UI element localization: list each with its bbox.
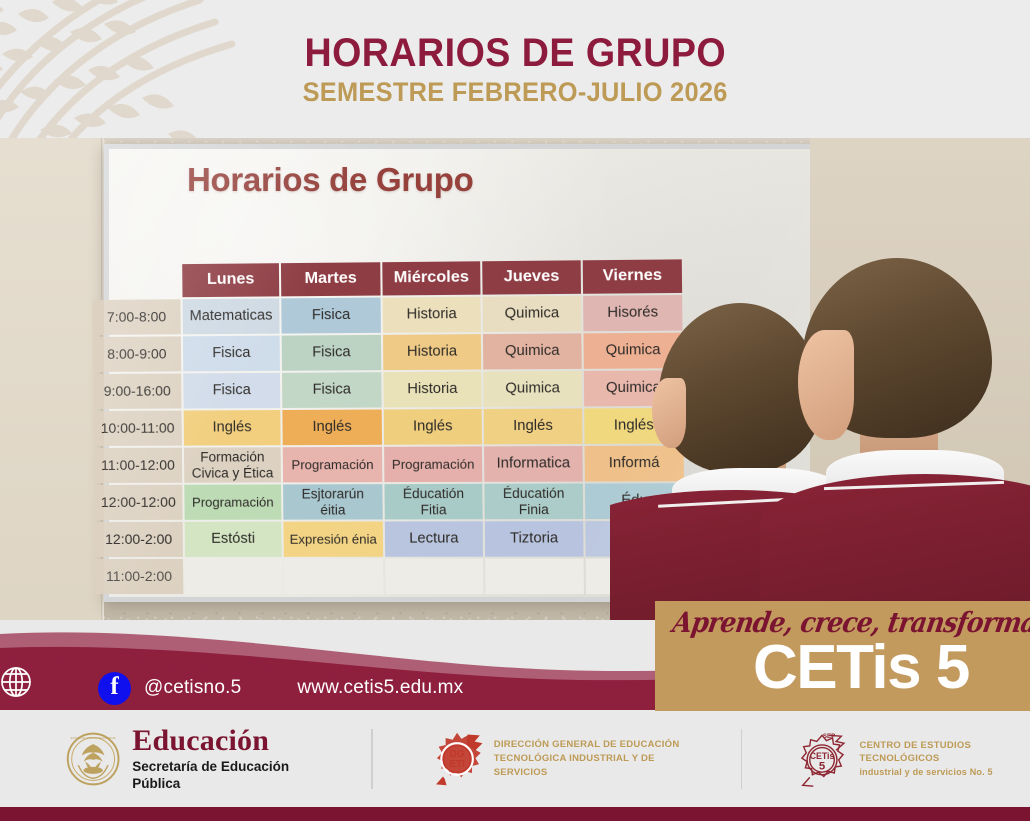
logo-divider-1 — [371, 729, 373, 789]
schedule-header-row: Lunes Martes Miércoles Jueves Viernes — [92, 259, 682, 298]
schedule-cell: Historia — [383, 372, 481, 408]
globe-icon[interactable] — [0, 666, 32, 698]
schedule-row: 8:00-9:00FisicaFisicaHistoriaQuimicaQuim… — [93, 333, 683, 372]
schedule-cell: Esjtorarún éitia — [283, 484, 383, 519]
whiteboard-title: Horarios de Grupo — [187, 161, 473, 199]
facebook-handle: @cetisno.5 — [144, 677, 241, 699]
time-slot-cell: 11:00-2:00 — [95, 559, 184, 594]
website-contact[interactable]: www.cetis5.edu.mx — [297, 677, 463, 699]
time-slot-cell: 9:00-16:00 — [93, 373, 182, 409]
schedule-cell: Matematicas — [183, 298, 280, 334]
dgeti-gear-icon: DG ETI — [429, 727, 485, 791]
logo-dgeti: DG ETI DIRECCIÓN GENERAL DE EDUCACIÓN TE… — [429, 721, 685, 797]
schedule-cell: Programación — [184, 484, 281, 519]
dgeti-line2: TECNOLÓGICA INDUSTRIAL Y DE SERVICIOS — [494, 752, 685, 780]
schedule-cell: Fisica — [183, 336, 280, 372]
page-header: HORARIOS DE GRUPO SEMESTRE FEBRERO-JULIO… — [0, 0, 1030, 138]
schedule-cell: Programación — [283, 447, 383, 483]
students-group — [610, 138, 1030, 620]
schedule-cell: Programación — [384, 446, 482, 482]
brand-block: Aprende, crece, transforma. CETis 5 — [655, 601, 1030, 711]
schedule-row: 11:00-2:00 — [95, 559, 685, 595]
schedule-cell: Inglés — [282, 409, 382, 445]
svg-text:5: 5 — [819, 761, 826, 773]
time-slot-cell: 8:00-9:00 — [93, 336, 182, 372]
schedule-cell: Informatica — [484, 446, 583, 482]
mexico-coat-of-arms-icon: ESTADOS UNIDOS MEXICANOS — [66, 728, 120, 790]
schedule-cell: Quimica — [483, 296, 582, 332]
schedule-row: 11:00-12:00Formación Civica y ÉticaProgr… — [94, 446, 684, 483]
time-slot-cell: 12:00-12:00 — [94, 485, 183, 520]
facebook-contact[interactable]: f @cetisno.5 — [98, 672, 241, 705]
svg-text:SEP: SEP — [823, 733, 835, 740]
logo-divider-2 — [741, 729, 743, 789]
schedule-cell: Formación Civica y Ética — [184, 447, 281, 482]
schedule-cell — [185, 559, 282, 594]
schedule-cell: Fisica — [183, 373, 280, 409]
schedule-cell — [385, 559, 483, 594]
day-header-lunes: Lunes — [182, 263, 279, 297]
schedule-cell: Fisica — [282, 372, 382, 408]
schedule-corner-cell — [92, 264, 180, 298]
schedule-row: 7:00-8:00MatematicasFisicaHistoriaQuimic… — [92, 295, 682, 335]
schedule-row: 9:00-16:00FisicaFisicaHistoriaQuimicaQui… — [93, 370, 683, 409]
time-slot-cell: 11:00-12:00 — [94, 448, 183, 483]
schedule-cell — [485, 559, 584, 595]
schedule-cell — [284, 559, 384, 594]
brand-name: CETis 5 — [753, 637, 969, 699]
svg-text:ETI: ETI — [449, 759, 465, 770]
schedule-cell: Éducatión Finia — [484, 484, 583, 520]
time-slot-cell: 10:00-11:00 — [93, 411, 182, 446]
svg-text:CETis: CETis — [810, 751, 835, 761]
day-header-jueves: Jueves — [482, 260, 581, 294]
logo-sep: ESTADOS UNIDOS MEXICANOS Educación Secre… — [66, 721, 315, 797]
schedule-cell: Éducatión Fitia — [384, 484, 482, 520]
time-slot-cell: 7:00-8:00 — [92, 299, 181, 335]
cetis5-gear-icon: CETis 5 SEP — [794, 726, 850, 792]
schedule-cell: Inglés — [184, 410, 281, 446]
schedule-table: Lunes Martes Miércoles Jueves Viernes 7:… — [90, 257, 687, 596]
schedule-cell: Estósti — [185, 522, 282, 557]
page-title: HORARIOS DE GRUPO — [304, 33, 726, 73]
schedule-cell: Fisica — [281, 298, 381, 334]
day-header-martes: Martes — [281, 262, 381, 296]
facebook-icon[interactable]: f — [98, 672, 131, 705]
dgeti-line1: DIRECCIÓN GENERAL DE EDUCACIÓN — [494, 738, 685, 752]
schedule-cell: Quimica — [483, 371, 582, 407]
contact-info: f @cetisno.5 www.cetis5.edu.mx — [0, 666, 660, 710]
schedule-row: 10:00-11:00InglésInglésInglésInglésInglé… — [93, 408, 683, 446]
schedule-cell: Expresión énia — [283, 521, 383, 556]
classroom-photo: Horarios de Grupo Lunes Martes Miércoles… — [0, 138, 1030, 620]
page-subtitle: SEMESTRE FEBRERO-JULIO 2026 — [302, 79, 727, 106]
svg-text:ESTADOS UNIDOS MEXICANOS: ESTADOS UNIDOS MEXICANOS — [71, 736, 116, 740]
sep-subtitle: Secretaría de Educación Pública — [132, 759, 315, 791]
institutional-logo-strip: ESTADOS UNIDOS MEXICANOS Educación Secre… — [0, 711, 1030, 807]
time-slot-cell: 12:00-2:00 — [94, 522, 183, 557]
day-header-miercoles: Miércoles — [382, 261, 480, 295]
logo-cetis5: CETis 5 SEP CENTRO DE ESTUDIOS TECNOLÓGI… — [794, 721, 1030, 797]
bottom-accent-bar — [0, 807, 1030, 821]
schedule-cell: Quimica — [483, 333, 582, 369]
wall-left-panel — [0, 138, 104, 620]
sep-title: Educación — [132, 726, 315, 756]
schedule-cell: Inglés — [484, 408, 583, 444]
cetis5-line2: industrial y de servicios No. 5 — [859, 766, 1030, 779]
schedule-row: 12:00-2:00EstóstiExpresión éniaLecturaTi… — [94, 521, 684, 557]
schedule-cell: Historia — [383, 334, 481, 370]
cetis5-line1: CENTRO DE ESTUDIOS TECNOLÓGICOS — [859, 739, 1030, 767]
schedule-cell: Lectura — [385, 521, 483, 556]
schedule-cell: Historia — [383, 297, 481, 333]
schedule-body: 7:00-8:00MatematicasFisicaHistoriaQuimic… — [92, 295, 685, 594]
schedule-cell: Inglés — [384, 409, 482, 445]
schedule-cell: Tiztoria — [485, 521, 584, 557]
schedule-cell: Fisica — [282, 335, 382, 371]
schedule-row: 12:00-12:00ProgramaciónEsjtorarún éitiaÉ… — [94, 483, 684, 520]
website-url: www.cetis5.edu.mx — [297, 677, 463, 699]
